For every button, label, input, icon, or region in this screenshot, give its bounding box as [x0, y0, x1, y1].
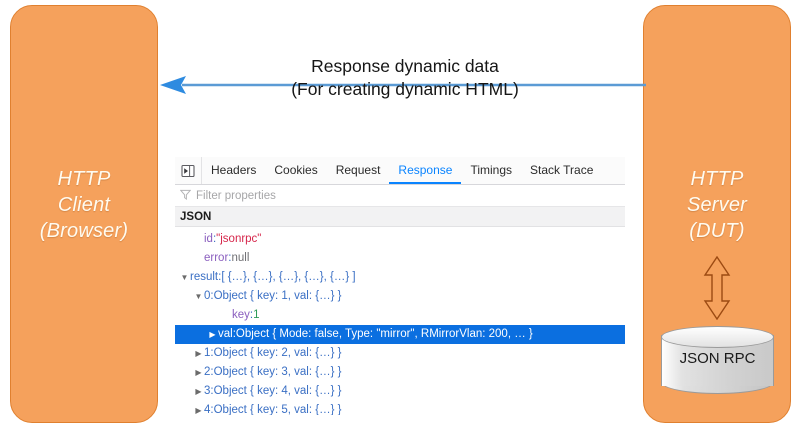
- response-arrow-caption: Response dynamic data (For creating dyna…: [175, 55, 635, 101]
- expand-twisty-closed-icon[interactable]: ▶: [193, 344, 204, 363]
- json-value: Object { Mode: false, Type: "mirror", RM…: [236, 325, 533, 344]
- json-value: Object { key: 4, val: {…} }: [214, 382, 342, 401]
- json-value: Object { key: 1, val: {…} }: [214, 287, 342, 306]
- json-value: 1: [253, 306, 259, 325]
- json-key: val: [218, 325, 233, 344]
- expand-twisty-closed-icon[interactable]: ▶: [193, 382, 204, 401]
- tab-response[interactable]: Response: [389, 157, 461, 184]
- json-value: Object { key: 2, val: {…} }: [214, 344, 342, 363]
- json-row[interactable]: ▶2: Object { key: 3, val: {…} }: [175, 363, 625, 382]
- json-key: key: [232, 306, 250, 325]
- filter-properties-row[interactable]: Filter properties: [175, 185, 625, 207]
- json-row[interactable]: ▼0: Object { key: 1, val: {…} }: [175, 287, 625, 306]
- json-rpc-label: JSON RPC: [661, 350, 774, 367]
- devtools-response-panel: Headers Cookies Request Response Timings…: [175, 157, 625, 415]
- json-rpc-database-cylinder: JSON RPC: [661, 326, 774, 395]
- json-value: Object { key: 3, val: {…} }: [214, 363, 342, 382]
- devtools-tab-bar: Headers Cookies Request Response Timings…: [175, 157, 625, 185]
- expand-twisty-closed-icon[interactable]: ▶: [193, 401, 204, 415]
- json-row[interactable]: ▶3: Object { key: 4, val: {…} }: [175, 382, 625, 401]
- json-key: result: [190, 268, 218, 287]
- expand-twisty-open-icon[interactable]: ▼: [193, 287, 204, 306]
- json-value: [ {…}, {…}, {…}, {…}, {…} ]: [221, 268, 355, 287]
- json-row[interactable]: error: null: [175, 249, 625, 268]
- json-row[interactable]: ▶val: Object { Mode: false, Type: "mirro…: [175, 325, 625, 344]
- json-value: "jsonrpc": [216, 230, 261, 249]
- expand-twisty-closed-icon[interactable]: ▶: [193, 363, 204, 382]
- http-server-label: HTTP Server (DUT): [644, 166, 790, 244]
- devtools-tabs: Headers Cookies Request Response Timings…: [202, 157, 602, 184]
- json-row[interactable]: ▼result: [ {…}, {…}, {…}, {…}, {…} ]: [175, 268, 625, 287]
- tab-cookies[interactable]: Cookies: [265, 157, 326, 184]
- json-row[interactable]: key: 1: [175, 306, 625, 325]
- json-key: id: [204, 230, 213, 249]
- json-value: Object { key: 5, val: {…} }: [214, 401, 342, 415]
- json-row[interactable]: id: "jsonrpc": [175, 230, 625, 249]
- tab-headers[interactable]: Headers: [202, 157, 265, 184]
- expand-twisty-open-icon[interactable]: ▼: [179, 268, 190, 287]
- filter-properties-placeholder: Filter properties: [196, 190, 276, 202]
- server-database-double-arrow: [700, 256, 734, 320]
- http-client-box: HTTP Client (Browser): [10, 5, 158, 423]
- cylinder-top: [661, 326, 774, 348]
- json-row[interactable]: ▶4: Object { key: 5, val: {…} }: [175, 401, 625, 415]
- filter-icon: [180, 189, 191, 203]
- json-row[interactable]: ▶1: Object { key: 2, val: {…} }: [175, 344, 625, 363]
- tab-stack-trace[interactable]: Stack Trace: [521, 157, 602, 184]
- json-tree: id: "jsonrpc"error: null▼result: [ {…}, …: [175, 227, 625, 415]
- expand-twisty-closed-icon[interactable]: ▶: [207, 325, 218, 344]
- json-value: null: [231, 249, 249, 268]
- json-section-header: JSON: [175, 207, 625, 227]
- json-key: error: [204, 249, 228, 268]
- tab-timings[interactable]: Timings: [461, 157, 521, 184]
- panel-toggle-icon[interactable]: [175, 157, 202, 184]
- http-client-label: HTTP Client (Browser): [11, 166, 157, 244]
- tab-request[interactable]: Request: [327, 157, 390, 184]
